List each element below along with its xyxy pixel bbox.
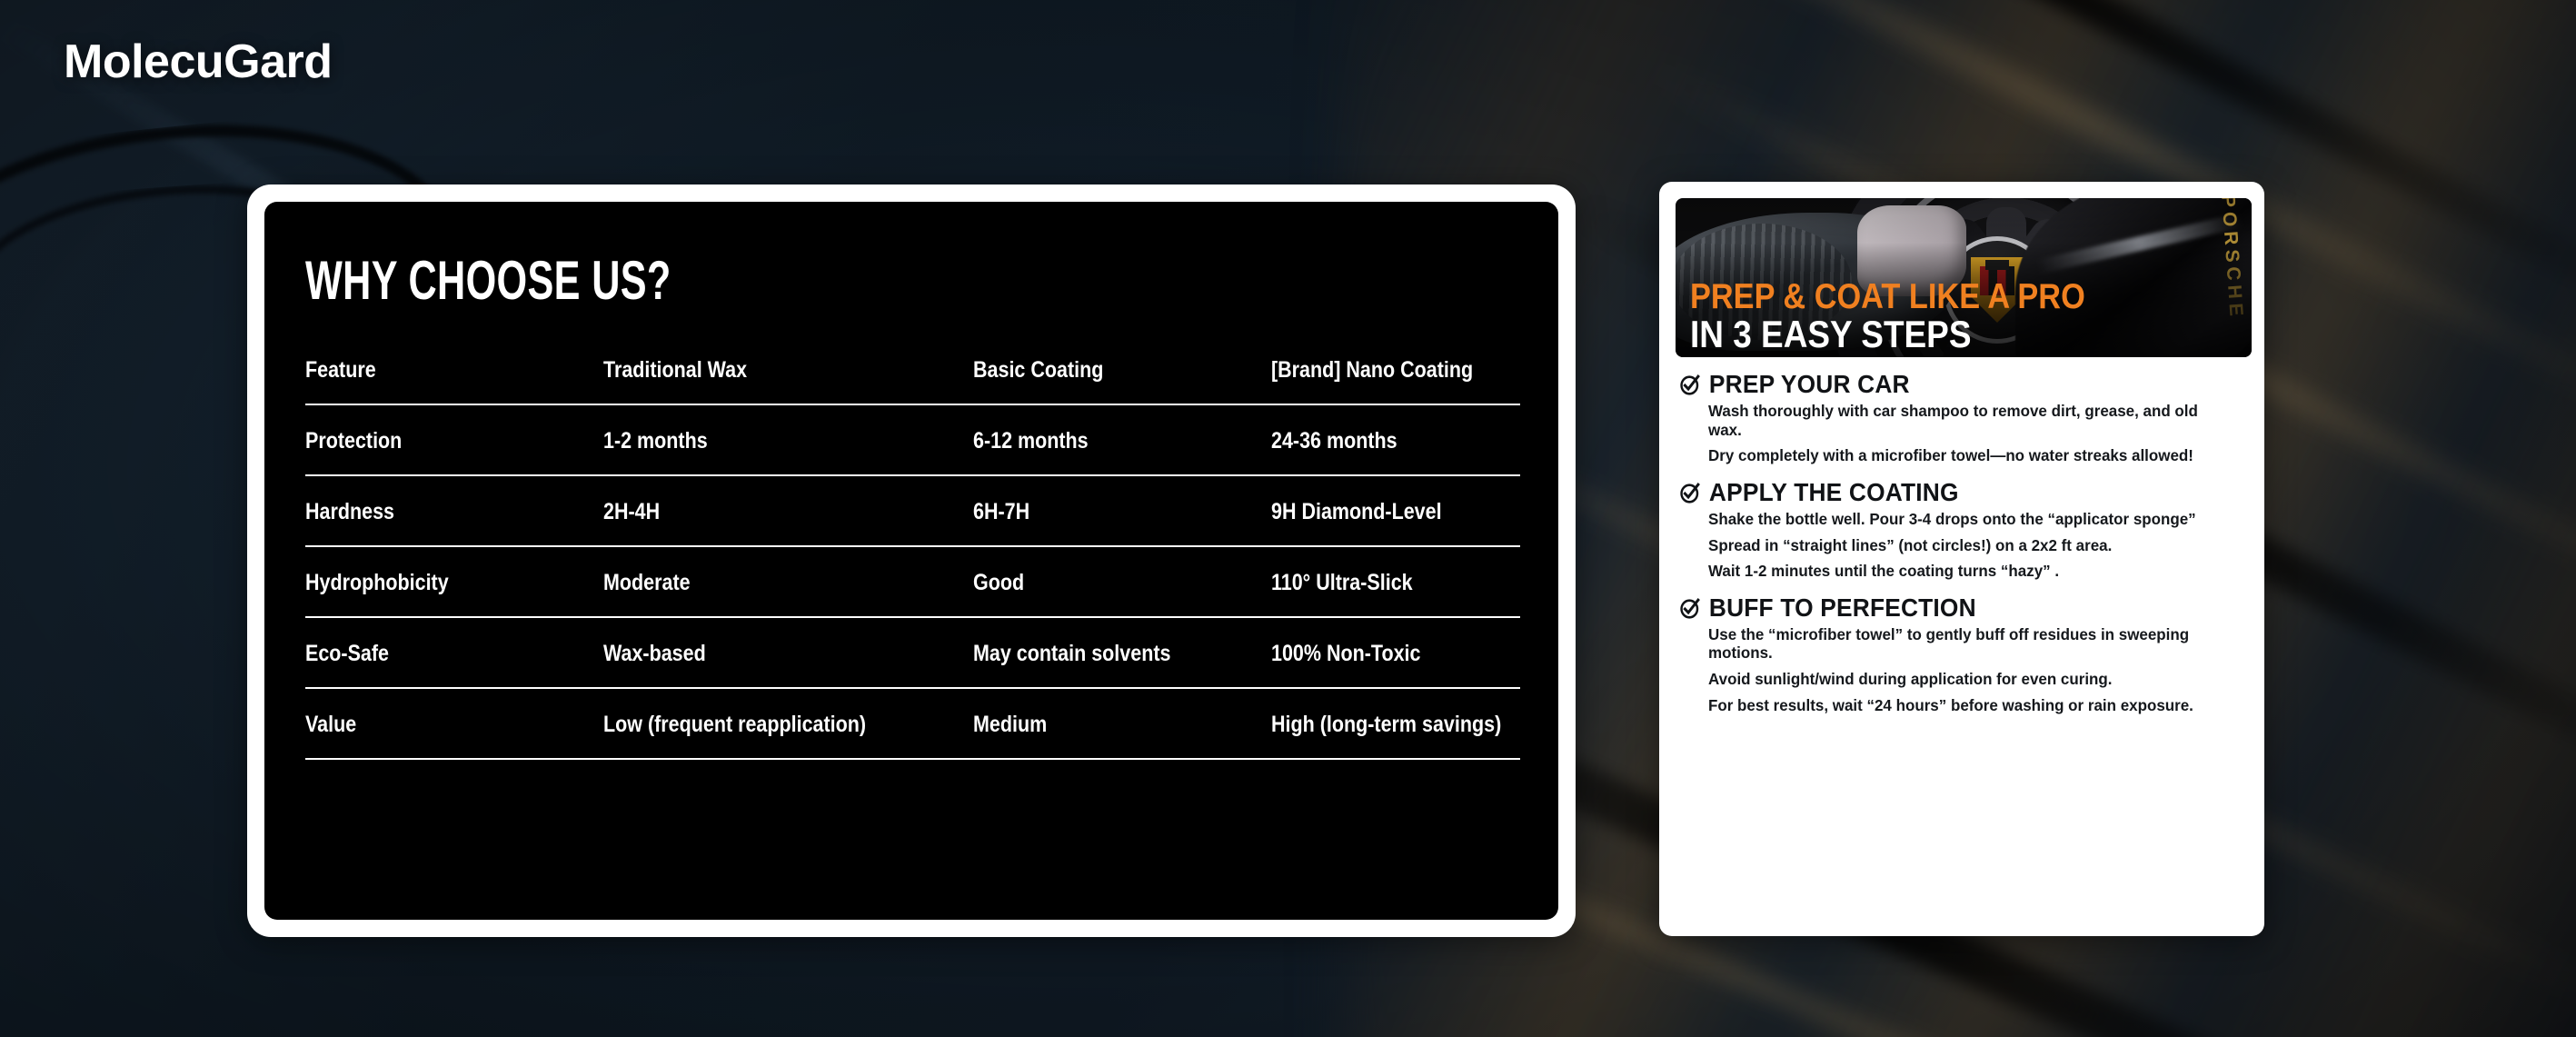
table-row: Value Low (frequent reapplication) Mediu… [305, 688, 1520, 759]
steps-card: PORSCHE PREP & COAT LIKE A PRO IN 3 EASY… [1659, 182, 2264, 936]
cell-feature: Protection [305, 404, 562, 475]
step-3-line-3: For best results, wait “24 hours” before… [1708, 696, 2233, 715]
cell-basic-coating: Medium [973, 688, 1229, 759]
cell-nano-coating: 9H Diamond-Level [1271, 475, 1486, 546]
step-1-line-2: Dry completely with a microfiber towel—n… [1708, 446, 2233, 465]
step-item-2: APPLY THE COATING Shake the bottle well.… [1676, 478, 2250, 581]
table-row: Eco-Safe Wax-based May contain solvents … [305, 617, 1520, 688]
cell-basic-coating: 6H-7H [973, 475, 1229, 546]
cell-feature: Value [305, 688, 562, 759]
table-row: Protection 1-2 months 6-12 months 24-36 … [305, 404, 1520, 475]
step-1-title: PREP YOUR CAR [1709, 370, 1910, 399]
step-3-body: Use the “microfiber towel” to gently buf… [1679, 625, 2250, 715]
step-2-line-3: Wait 1-2 minutes until the coating turns… [1708, 562, 2233, 581]
step-2-heading: APPLY THE COATING [1679, 478, 2215, 507]
cell-traditional-wax: 2H-4H [603, 475, 922, 546]
column-header-nano-coating: [Brand] Nano Coating [1271, 357, 1486, 404]
step-2-line-1: Shake the bottle well. Pour 3-4 drops on… [1708, 510, 2233, 529]
cell-traditional-wax: Low (frequent reapplication) [603, 688, 922, 759]
step-2-body: Shake the bottle well. Pour 3-4 drops on… [1679, 510, 2250, 581]
step-2-title: APPLY THE COATING [1709, 478, 1959, 507]
cell-nano-coating: 100% Non-Toxic [1271, 617, 1486, 688]
step-2-line-2: Spread in “straight lines” (not circles!… [1708, 536, 2233, 555]
step-3-line-1: Use the “microfiber towel” to gently buf… [1708, 625, 2233, 663]
step-1-heading: PREP YOUR CAR [1679, 370, 2215, 399]
cell-nano-coating: High (long-term savings) [1271, 688, 1486, 759]
page-title: WHY CHOOSE US? [305, 249, 1180, 312]
cell-feature: Hydrophobicity [305, 546, 562, 617]
column-header-traditional-wax: Traditional Wax [603, 357, 922, 404]
hero-image: PORSCHE PREP & COAT LIKE A PRO IN 3 EASY… [1676, 198, 2252, 357]
table-header-row: Feature Traditional Wax Basic Coating [B… [305, 357, 1520, 404]
cell-nano-coating: 110° Ultra-Slick [1271, 546, 1486, 617]
cell-nano-coating: 24-36 months [1271, 404, 1486, 475]
cell-feature: Eco-Safe [305, 617, 562, 688]
hero-headline-primary: PREP & COAT LIKE A PRO [1690, 279, 2085, 315]
cell-basic-coating: May contain solvents [973, 617, 1229, 688]
table-row: Hydrophobicity Moderate Good 110° Ultra-… [305, 546, 1520, 617]
step-3-title: BUFF TO PERFECTION [1709, 593, 1976, 623]
cell-basic-coating: 6-12 months [973, 404, 1229, 475]
comparison-panel: WHY CHOOSE US? Feature Traditional Wax B… [264, 202, 1558, 920]
step-1-body: Wash thoroughly with car shampoo to remo… [1679, 402, 2250, 465]
brand-logo: MolecuGard [64, 35, 333, 89]
hero-headline-secondary: IN 3 EASY STEPS [1690, 315, 2085, 354]
table-row: Hardness 2H-4H 6H-7H 9H Diamond-Level [305, 475, 1520, 546]
comparison-table: Feature Traditional Wax Basic Coating [B… [305, 357, 1520, 760]
comparison-card: WHY CHOOSE US? Feature Traditional Wax B… [247, 184, 1576, 937]
step-item-1: PREP YOUR CAR Wash thoroughly with car s… [1676, 370, 2250, 465]
cell-traditional-wax: Moderate [603, 546, 922, 617]
hero-headline-block: PREP & COAT LIKE A PRO IN 3 EASY STEPS [1690, 279, 2139, 354]
column-header-feature: Feature [305, 357, 562, 404]
step-3-line-2: Avoid sunlight/wind during application f… [1708, 670, 2233, 689]
cell-traditional-wax: 1-2 months [603, 404, 922, 475]
circle-check-icon [1679, 596, 1701, 620]
step-1-line-1: Wash thoroughly with car shampoo to remo… [1708, 402, 2233, 439]
step-item-3: BUFF TO PERFECTION Use the “microfiber t… [1676, 593, 2250, 715]
circle-check-icon [1679, 481, 1701, 504]
circle-check-icon [1679, 373, 1701, 396]
column-header-basic-coating: Basic Coating [973, 357, 1229, 404]
step-3-heading: BUFF TO PERFECTION [1679, 593, 2215, 623]
cell-feature: Hardness [305, 475, 562, 546]
cell-basic-coating: Good [973, 546, 1229, 617]
cell-traditional-wax: Wax-based [603, 617, 922, 688]
